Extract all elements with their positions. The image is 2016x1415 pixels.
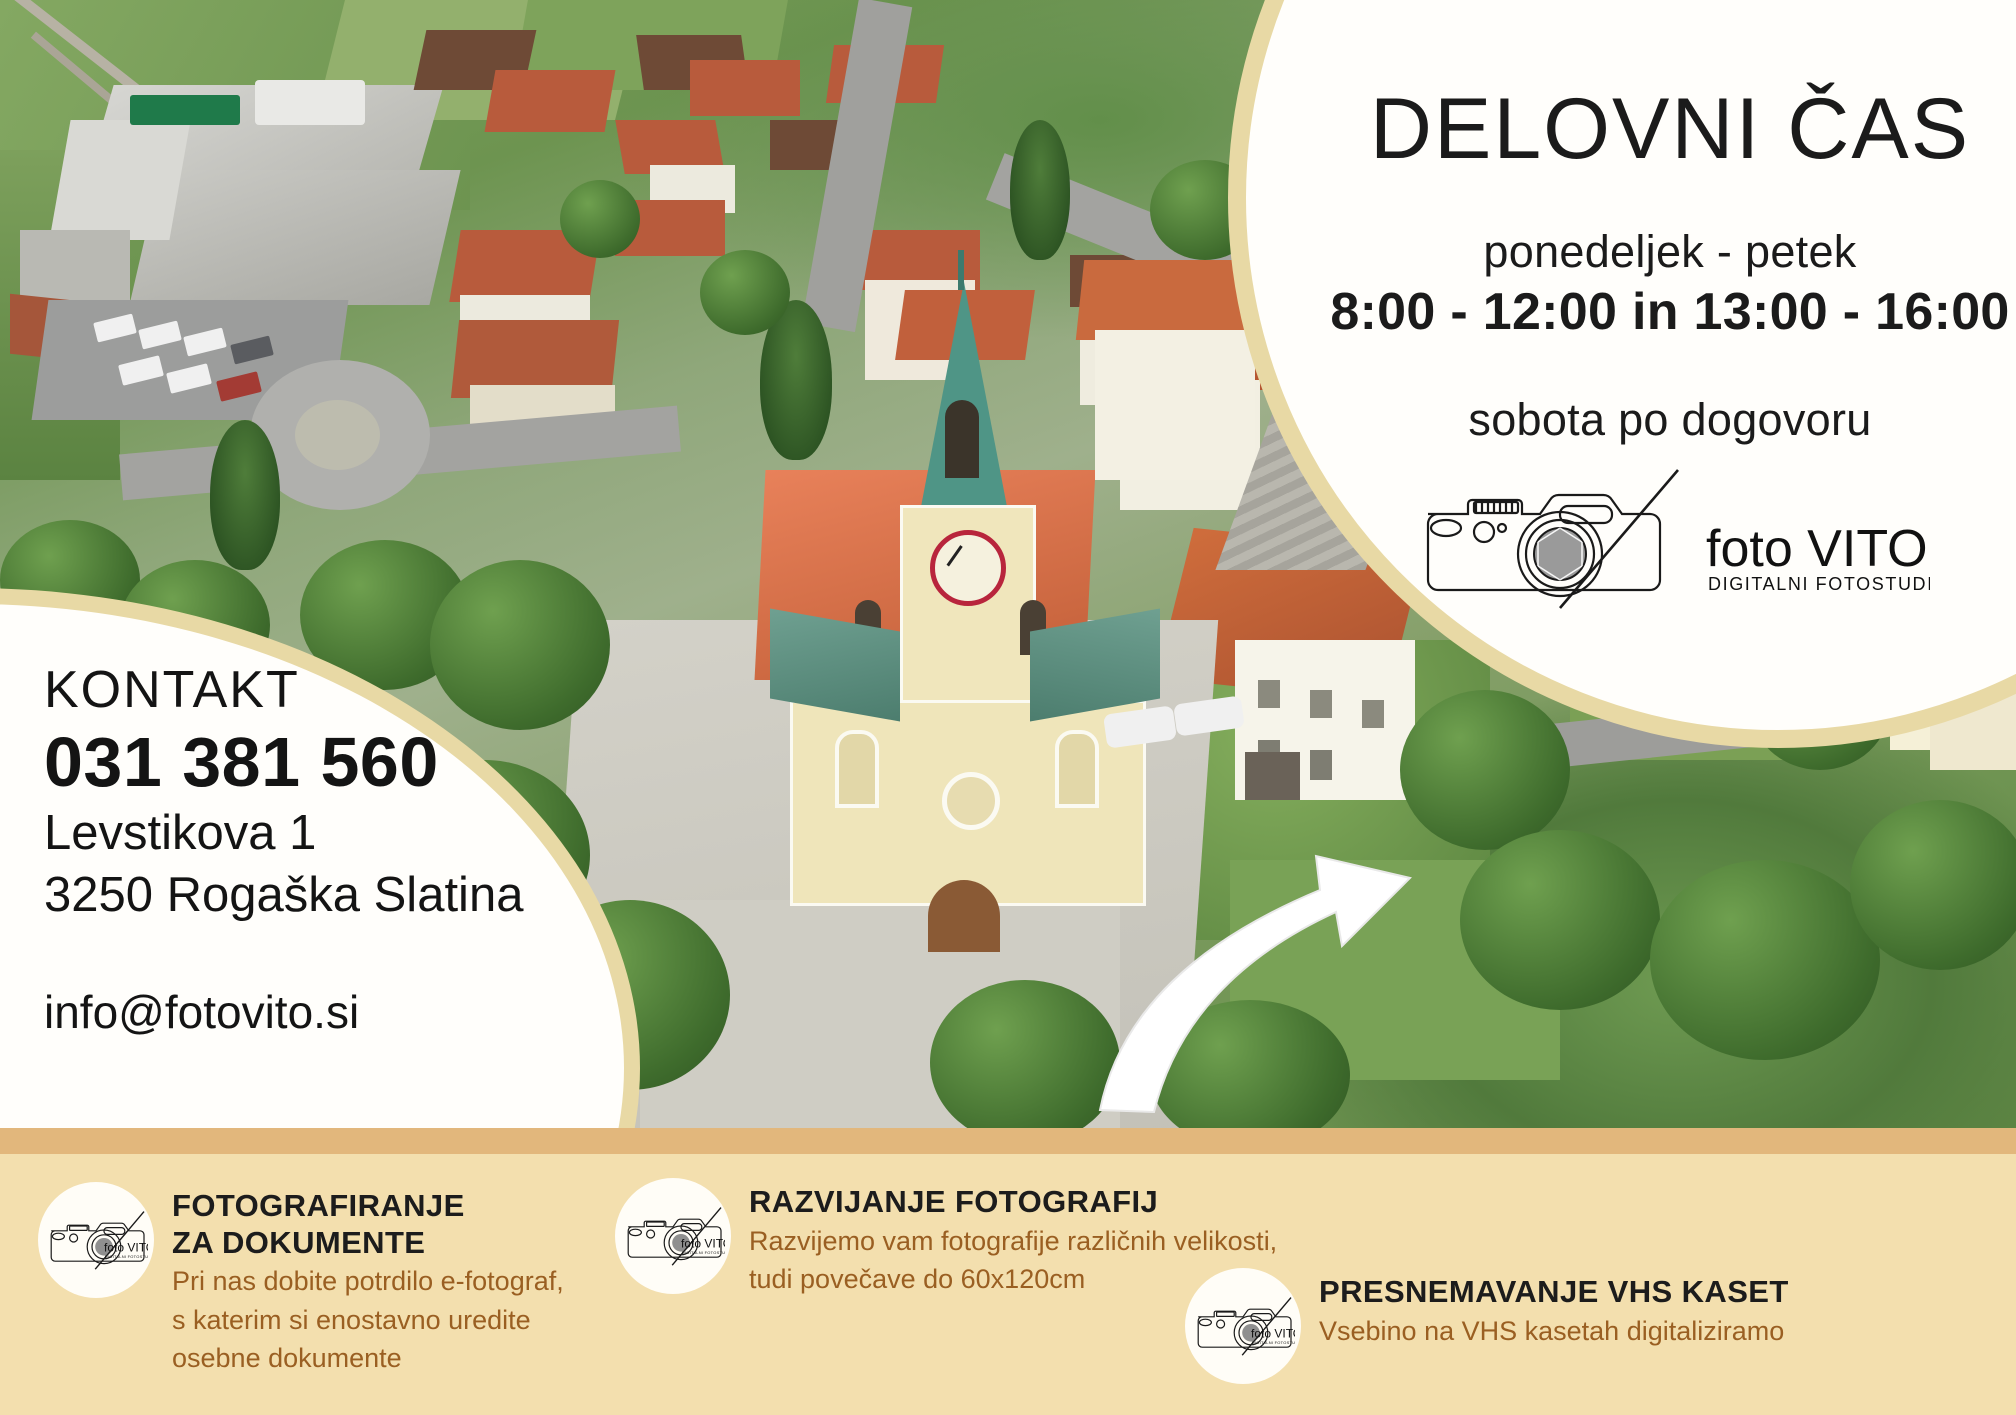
contact-street: Levstikova 1 bbox=[44, 804, 664, 863]
contact-email[interactable]: info@fotovito.si bbox=[44, 985, 664, 1039]
contact-content: KONTAKT 031 381 560 Levstikova 1 3250 Ro… bbox=[44, 660, 664, 1039]
bottom-bar-accent-strip bbox=[0, 1128, 2016, 1154]
service-text: PRESNEMAVANJE VHS KASET Vsebino na VHS k… bbox=[1319, 1268, 1789, 1349]
service-heading-line1: PRESNEMAVANJE VHS KASET bbox=[1319, 1274, 1789, 1311]
svg-text:DIGITALNI FOTOSTUDIO: DIGITALNI FOTOSTUDIO bbox=[682, 1250, 725, 1255]
service-body-line2: s katerim si enostavno uredite bbox=[172, 1303, 564, 1339]
contact-phone[interactable]: 031 381 560 bbox=[44, 726, 664, 800]
service-body-line1: Vsebino na VHS kasetah digitaliziramo bbox=[1319, 1314, 1789, 1350]
contact-city: 3250 Rogaška Slatina bbox=[44, 866, 664, 925]
service-heading-line2: ZA DOKUMENTE bbox=[172, 1225, 564, 1262]
service-body-line1: Razvijemo vam fotografije različnih veli… bbox=[749, 1224, 1277, 1260]
svg-text:foto VITO: foto VITO bbox=[681, 1237, 725, 1251]
svg-text:DIGITALNI FOTOSTUDIO: DIGITALNI FOTOSTUDIO bbox=[105, 1254, 148, 1259]
weekday-times: 8:00 - 12:00 in 13:00 - 16:00 bbox=[1300, 282, 2016, 342]
service-item-photo-developing[interactable]: foto VITO DIGITALNI FOTOSTUDIO RAZVIJANJ… bbox=[615, 1178, 1277, 1298]
service-body-line1: Pri nas dobite potrdilo e-fotograf, bbox=[172, 1264, 564, 1300]
weekday-label: ponedeljek - petek bbox=[1300, 226, 2016, 278]
brand-name: foto VITO bbox=[1706, 520, 1928, 578]
service-heading-line1: FOTOGRAFIRANJE bbox=[172, 1188, 564, 1225]
service-body-line3: osebne dokumente bbox=[172, 1341, 564, 1377]
poster-root: DELOVNI ČAS ponedeljek - petek 8:00 - 12… bbox=[0, 0, 2016, 1415]
service-text: FOTOGRAFIRANJE ZA DOKUMENTE Pri nas dobi… bbox=[172, 1182, 564, 1377]
camera-badge-icon: foto VITO DIGITALNI FOTOSTUDIO bbox=[1185, 1268, 1301, 1384]
svg-text:foto VITO: foto VITO bbox=[104, 1241, 148, 1255]
camera-badge-icon: foto VITO DIGITALNI FOTOSTUDIO bbox=[38, 1182, 154, 1298]
service-item-documents[interactable]: foto VITO DIGITALNI FOTOSTUDIO FOTOGRAFI… bbox=[38, 1182, 564, 1377]
opening-hours-content: DELOVNI ČAS ponedeljek - petek 8:00 - 12… bbox=[1300, 40, 2016, 700]
page-title: DELOVNI ČAS bbox=[1300, 84, 2016, 174]
camera-badge-icon: foto VITO DIGITALNI FOTOSTUDIO bbox=[615, 1178, 731, 1294]
brand-tagline: DIGITALNI FOTOSTUDIO bbox=[1708, 574, 1930, 594]
svg-text:foto VITO: foto VITO bbox=[1251, 1327, 1295, 1341]
svg-text:DIGITALNI FOTOSTUDIO: DIGITALNI FOTOSTUDIO bbox=[1252, 1340, 1295, 1345]
camera-icon: foto VITO DIGITALNI FOTOSTUDIO bbox=[1410, 462, 1930, 612]
aperture-icon bbox=[1534, 528, 1586, 580]
brand-logo: foto VITO DIGITALNI FOTOSTUDIO bbox=[1300, 462, 2016, 612]
service-heading-line1: RAZVIJANJE FOTOGRAFIJ bbox=[749, 1184, 1277, 1221]
service-item-vhs-transfer[interactable]: foto VITO DIGITALNI FOTOSTUDIO PRESNEMAV… bbox=[1185, 1268, 1789, 1384]
contact-label: KONTAKT bbox=[44, 660, 664, 720]
saturday-note: sobota po dogovoru bbox=[1300, 394, 2016, 446]
